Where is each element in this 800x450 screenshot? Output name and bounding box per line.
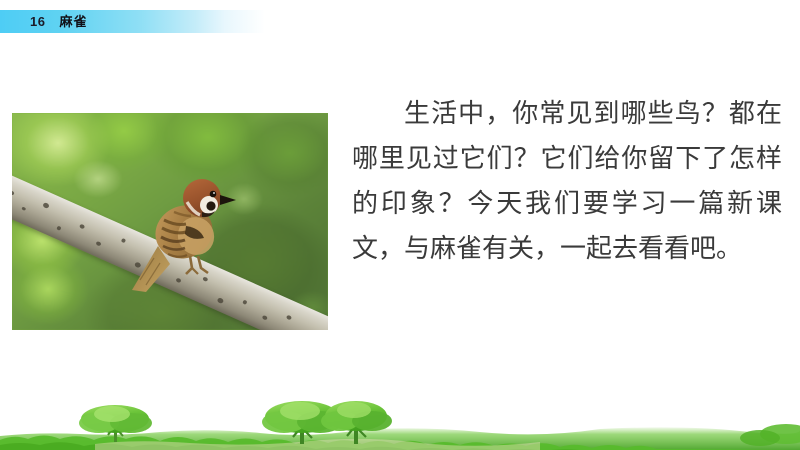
slide-canvas: 16 麻雀 — [0, 0, 800, 450]
bird-icon — [130, 168, 240, 293]
footer-landscape-decoration — [0, 392, 800, 450]
grass-icon — [740, 424, 800, 446]
lesson-number: 16 — [30, 10, 45, 33]
sparrow-photo — [12, 113, 328, 330]
lesson-intro-paragraph: 生活中，你常见到哪些鸟？都在哪里见过它们？它们给你留下了怎样的印象？今天我们要学… — [352, 92, 782, 272]
page-title: 麻雀 — [59, 10, 87, 33]
header-title-group: 16 麻雀 — [0, 10, 87, 33]
